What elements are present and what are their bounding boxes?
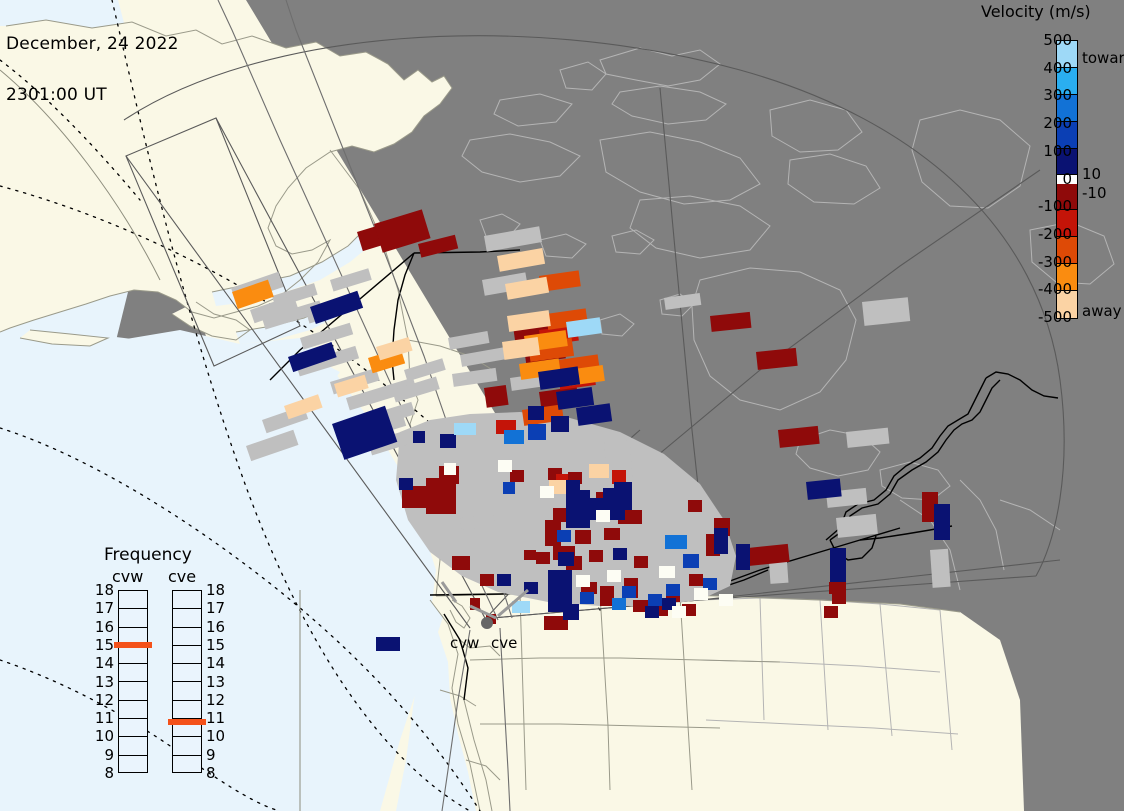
velocity-toward-label: toward	[1082, 49, 1124, 67]
velocity-tick-400: 400	[1026, 59, 1072, 77]
frequency-tick-12: 12	[206, 691, 230, 709]
site-label-cve: cve	[491, 634, 517, 652]
frequency-tick-9: 9	[90, 746, 114, 764]
frequency-cell	[173, 628, 201, 646]
velocity-tick--500: -500	[1026, 308, 1072, 326]
velocity-tick--200: -200	[1026, 225, 1072, 243]
frequency-tick-8: 8	[90, 764, 114, 782]
velocity-tick-200: 200	[1026, 114, 1072, 132]
frequency-tick-11: 11	[206, 709, 230, 727]
velocity-tick-0: 0	[1026, 170, 1072, 188]
frequency-cell	[173, 701, 201, 719]
frequency-cell	[173, 737, 201, 755]
velocity-zero-upper-label: 10	[1082, 165, 1101, 183]
frequency-column-cvw	[118, 590, 148, 773]
frequency-cell	[119, 609, 147, 627]
frequency-cell	[173, 591, 201, 609]
frequency-cell	[119, 591, 147, 609]
frequency-tick-13: 13	[90, 673, 114, 691]
frequency-cell	[119, 701, 147, 719]
timestamp-time: 2301:00 UT	[6, 87, 179, 104]
timestamp-date: December, 24 2022	[6, 36, 179, 53]
frequency-cell	[173, 683, 201, 701]
frequency-column-label-cve: cve	[168, 567, 196, 586]
frequency-cell	[119, 664, 147, 682]
frequency-tick-17: 17	[90, 599, 114, 617]
frequency-cell	[173, 646, 201, 664]
frequency-cell	[119, 683, 147, 701]
frequency-tick-17: 17	[206, 599, 230, 617]
frequency-legend: Frequency cvw cve 18171615141312111098 1…	[88, 545, 248, 790]
frequency-tick-16: 16	[90, 618, 114, 636]
frequency-cell	[173, 609, 201, 627]
velocity-zero-lower-label: -10	[1082, 184, 1107, 202]
frequency-tick-12: 12	[90, 691, 114, 709]
frequency-tick-16: 16	[206, 618, 230, 636]
frequency-column-label-cvw: cvw	[112, 567, 143, 586]
frequency-tick-11: 11	[90, 709, 114, 727]
frequency-tick-8: 8	[206, 764, 230, 782]
velocity-tick-100: 100	[1026, 142, 1072, 160]
velocity-tick-300: 300	[1026, 86, 1072, 104]
frequency-cell	[119, 719, 147, 737]
frequency-tick-15: 15	[206, 636, 230, 654]
frequency-tick-15: 15	[90, 636, 114, 654]
frequency-marker-cve	[168, 719, 206, 725]
frequency-tick-18: 18	[90, 581, 114, 599]
frequency-cell	[173, 756, 201, 774]
frequency-tick-14: 14	[206, 654, 230, 672]
timestamp: December, 24 2022 2301:00 UT	[6, 2, 179, 138]
velocity-away-label: away	[1082, 302, 1122, 320]
frequency-cell	[119, 756, 147, 774]
frequency-tick-13: 13	[206, 673, 230, 691]
velocity-tick--100: -100	[1026, 197, 1072, 215]
frequency-cell	[119, 646, 147, 664]
frequency-tick-14: 14	[90, 654, 114, 672]
frequency-tick-18: 18	[206, 581, 230, 599]
superdarn-velocity-map: December, 24 2022 2301:00 UT Velocity (m…	[0, 0, 1124, 811]
frequency-cell	[173, 664, 201, 682]
velocity-colorbar-title: Velocity (m/s)	[981, 2, 1091, 21]
frequency-column-cve	[172, 590, 202, 773]
frequency-cell	[119, 737, 147, 755]
frequency-tick-9: 9	[206, 746, 230, 764]
velocity-tick--300: -300	[1026, 253, 1072, 271]
frequency-marker-cvw	[114, 642, 152, 648]
velocity-colorbar: Velocity (m/s) 5004003002001000-100-200-…	[975, 2, 1124, 332]
frequency-tick-10: 10	[90, 727, 114, 745]
velocity-tick--400: -400	[1026, 280, 1072, 298]
site-label-cvw: cvw	[450, 634, 479, 652]
frequency-tick-10: 10	[206, 727, 230, 745]
frequency-legend-title: Frequency	[104, 545, 192, 565]
velocity-tick-500: 500	[1026, 31, 1072, 49]
